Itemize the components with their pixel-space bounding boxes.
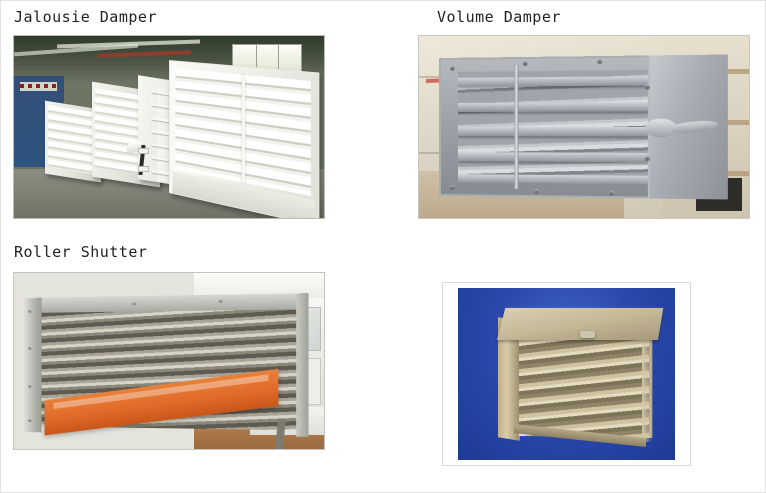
caption-volume-damper: Volume Damper [437,8,561,26]
frame-bolt [219,298,223,302]
volume-damper-unit [439,54,728,199]
frame-bolt [644,156,649,161]
bluefire-photo-content [443,283,690,465]
caption-jalousie-damper: Jalousie Damper [14,8,157,26]
actuator-arm [668,119,717,135]
wall-sign [20,82,57,91]
damper-actuator [644,112,722,144]
shutter-latch [580,331,594,338]
jalousie-photo-content [14,36,324,218]
frame-bolt [450,185,455,190]
shutter-curtain-slats [519,333,652,439]
blue-studio-background [458,288,675,459]
damper-blade [458,102,653,112]
shutter-right-rail [642,329,652,443]
damper-blade-stack [458,70,653,185]
damper-blade [458,76,653,87]
roller-shutter-unit [23,293,308,437]
damper-unit-foreground [169,60,319,218]
shutter-right-guide [296,293,308,437]
frame-bolt [523,61,528,66]
actuator-bracket [138,166,149,172]
frame-bolt [597,59,602,64]
louver-blades [48,106,98,175]
volume-photo-content [419,36,749,218]
damper-blade [458,151,653,161]
damper-blade [458,174,653,185]
fire-roller-shutter-photo [442,282,691,466]
volume-damper-photo [418,35,750,219]
shutter-assembly [506,309,649,439]
product-gallery-page: Jalousie Damper [0,0,766,493]
louver-center-divider [241,74,244,183]
frame-bolt [644,84,649,89]
shutter-left-guide [23,297,42,431]
damper-blade [458,127,653,136]
damper-actuator [126,136,157,176]
frame-bolt [534,189,539,194]
roller-photo-content [14,273,324,449]
jalousie-damper-photo [13,35,325,219]
actuator-bracket [138,148,149,154]
caption-roller-shutter: Roller Shutter [14,243,147,261]
damper-linkage-rod [514,65,518,188]
roller-shutter-photo [13,272,325,450]
frame-bolt [450,66,455,71]
